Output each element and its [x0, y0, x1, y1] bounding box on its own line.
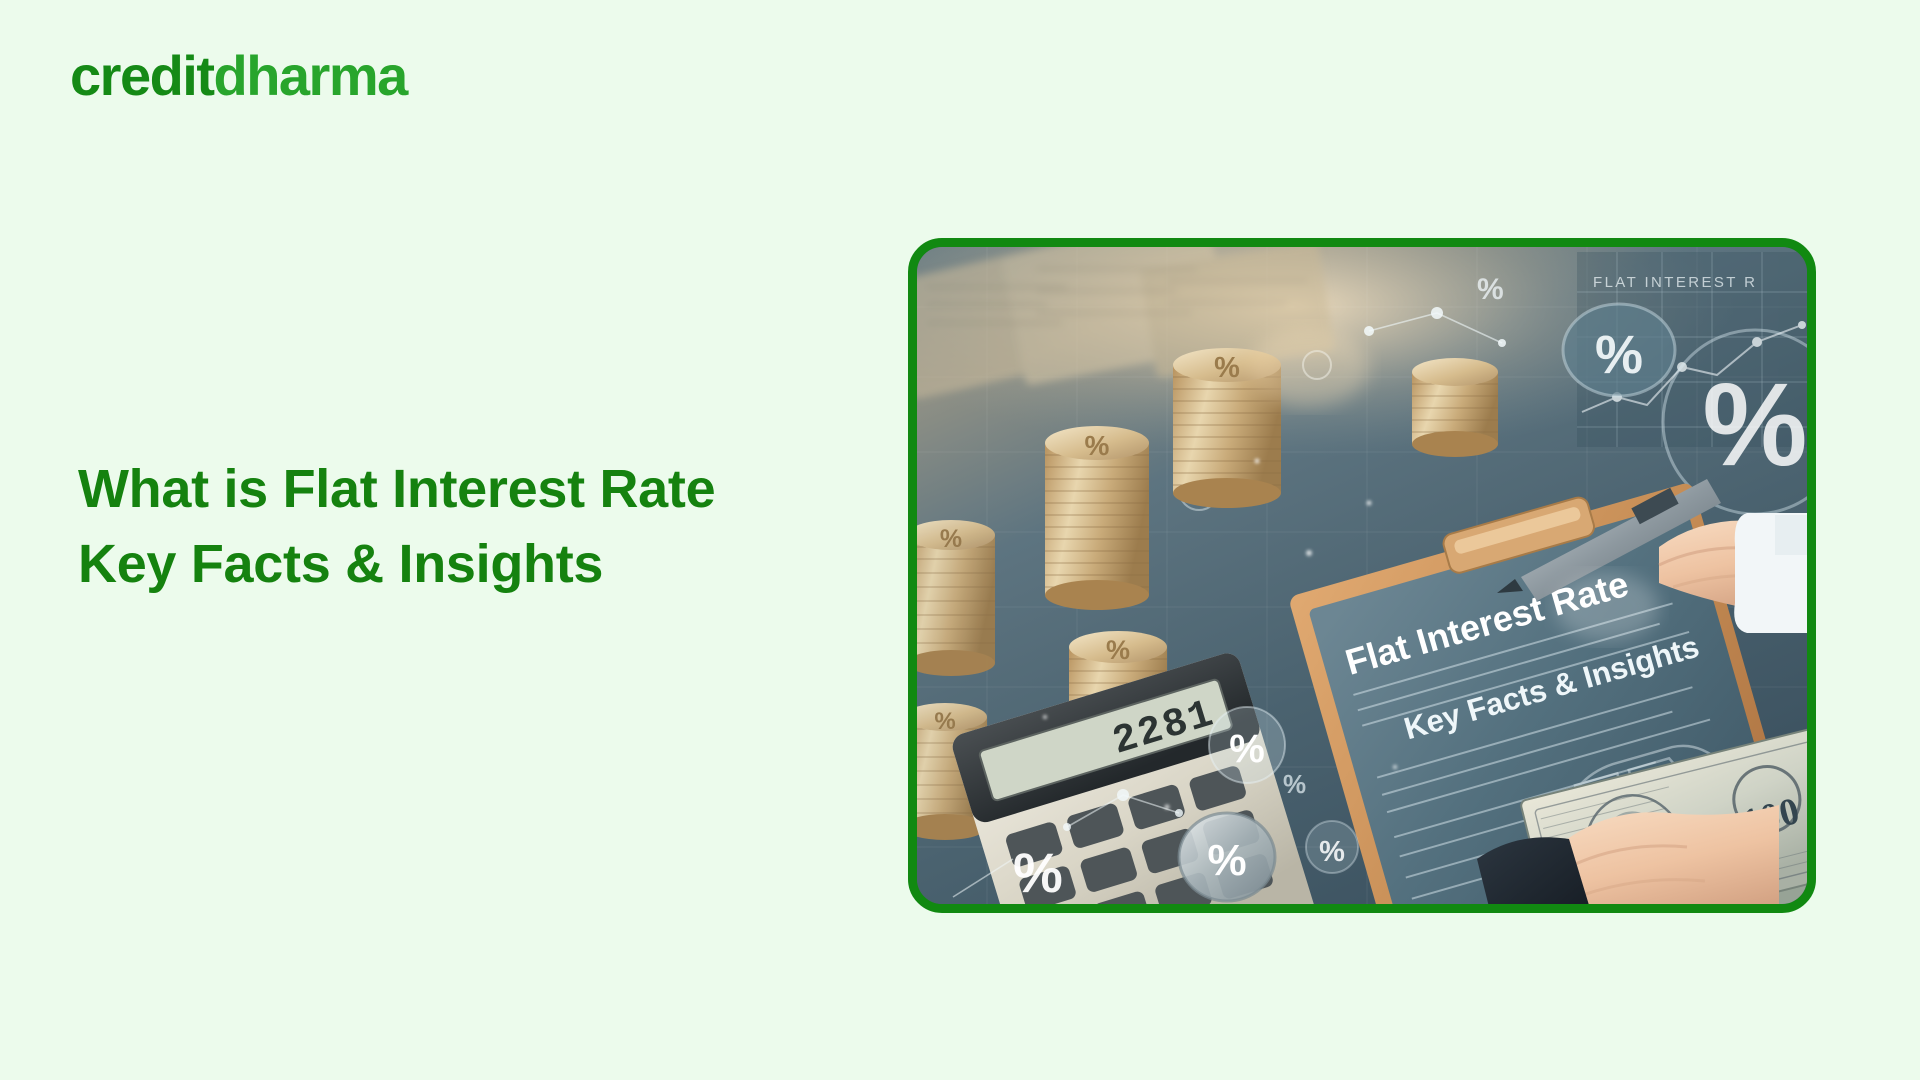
percent-bubble-low: % — [1306, 821, 1358, 873]
page-title: What is Flat Interest Rate Key Facts & I… — [78, 452, 858, 601]
logo-text-dharma: dharma — [214, 44, 407, 107]
page-title-line-2: Key Facts & Insights — [78, 527, 858, 602]
percent-coin-top: % — [1563, 304, 1675, 396]
percent-symbol-small: % — [1283, 769, 1306, 799]
percent-coin-bottom: % — [1179, 813, 1275, 901]
percent-symbol: % — [1207, 836, 1246, 885]
coin-stack-medium: % — [1045, 426, 1149, 610]
percent-symbol: % — [1106, 635, 1130, 665]
percent-symbol: % — [1319, 836, 1345, 868]
percent-symbol: % — [1595, 325, 1643, 385]
logo-text-credit: credit — [70, 44, 214, 107]
percent-symbol-bottom: % — [1013, 841, 1063, 904]
percent-symbol: % — [1085, 430, 1110, 461]
percent-symbol: % — [1214, 352, 1240, 384]
percent-symbol: % — [940, 525, 962, 553]
coin-stack-left-edge: % — [917, 520, 995, 676]
site-logo[interactable]: creditdharma — [70, 48, 407, 104]
page-title-line-1: What is Flat Interest Rate — [78, 452, 858, 527]
hero-image-card: FLAT INTEREST R % % % — [908, 238, 1816, 913]
percent-symbol-small: % — [1477, 273, 1504, 306]
hero-illustration: FLAT INTEREST R % % % — [917, 247, 1807, 904]
chart-label: FLAT INTEREST R — [1593, 274, 1757, 291]
percent-symbol: % — [934, 708, 955, 735]
percent-symbol-large: % — [1703, 359, 1807, 491]
percent-bubble-mid: % — [1209, 707, 1285, 783]
coin-stack-short — [1412, 358, 1498, 457]
percent-symbol: % — [1229, 727, 1265, 771]
